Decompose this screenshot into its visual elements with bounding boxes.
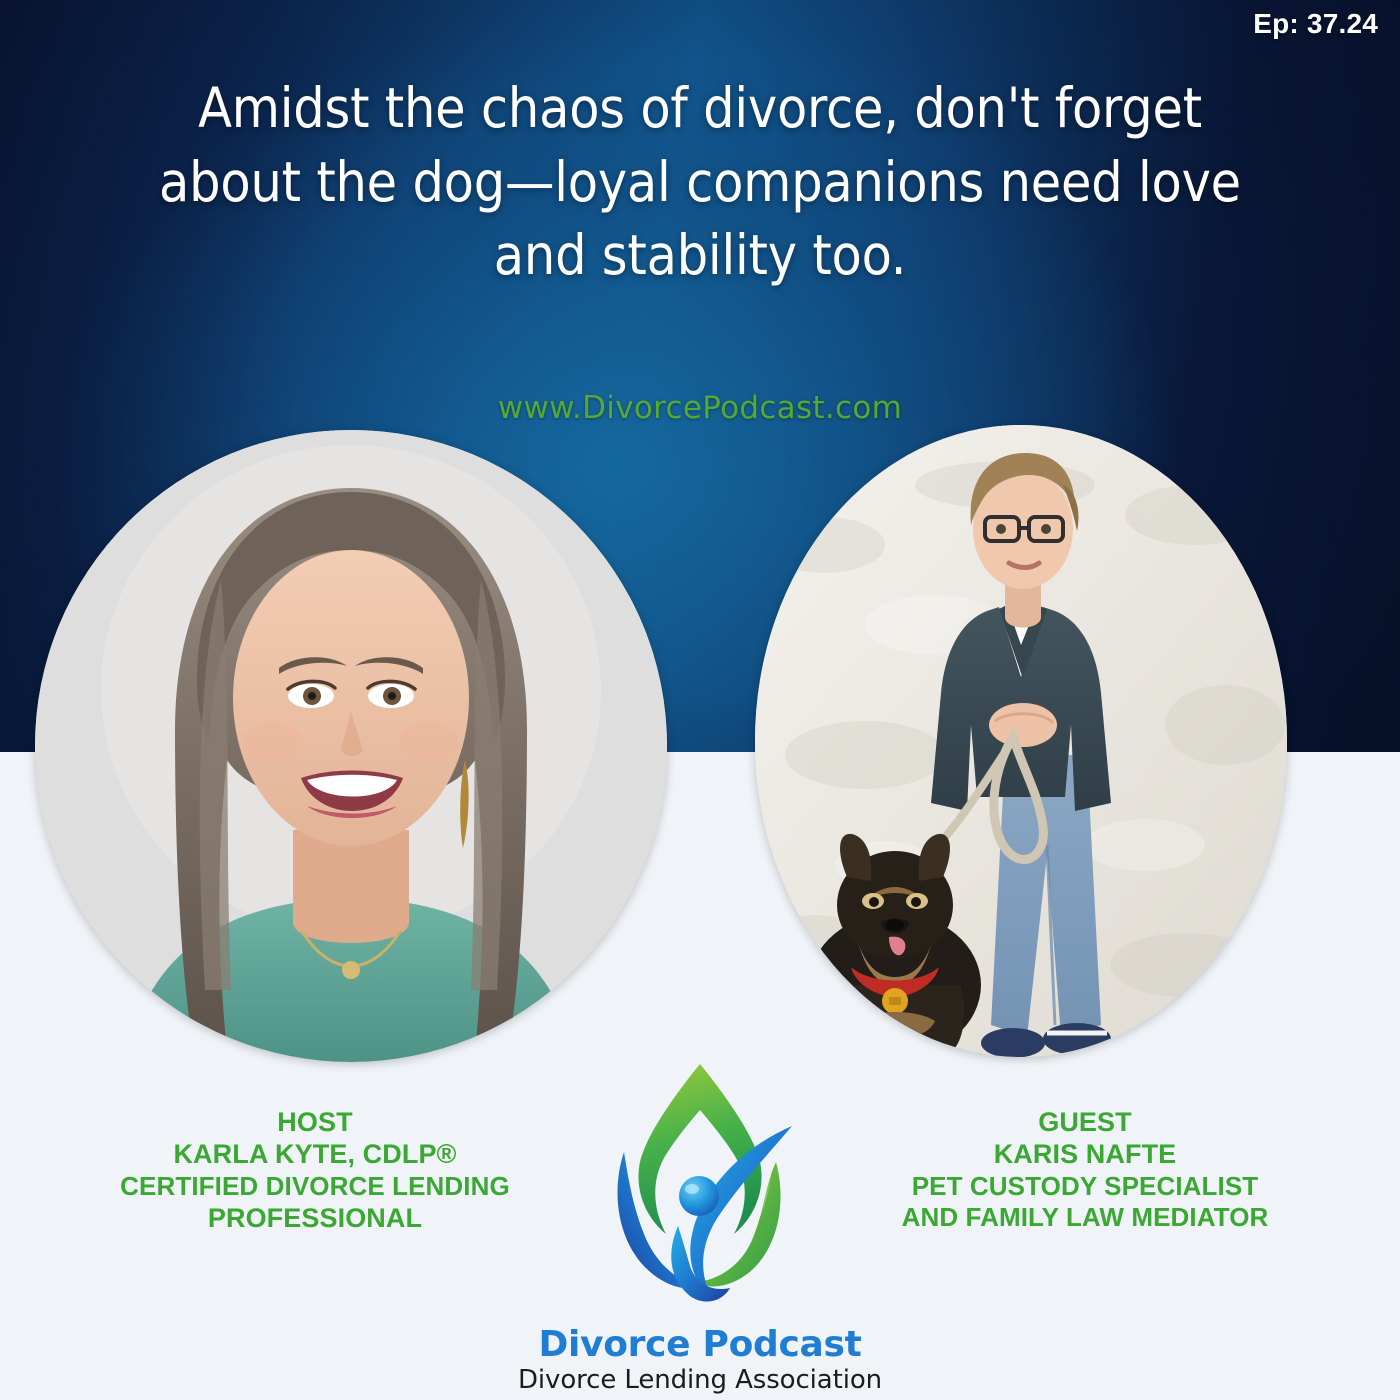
host-title-line-2: PROFESSIONAL bbox=[30, 1202, 600, 1234]
guest-credit: GUEST KARIS NAFTE PET CUSTODY SPECIALIST… bbox=[800, 1106, 1370, 1233]
quote-text: Amidst the chaos of divorce, don't forge… bbox=[110, 72, 1290, 293]
quote-line-1: Amidst the chaos of divorce, don't forge… bbox=[110, 72, 1290, 146]
guest-name: KARIS NAFTE bbox=[800, 1138, 1370, 1170]
guest-title-line-2: AND FAMILY LAW MEDIATOR bbox=[800, 1202, 1370, 1233]
quote-line-3: and stability too. bbox=[110, 219, 1290, 293]
brand-name: Divorce Podcast bbox=[0, 1326, 1400, 1364]
host-name: KARLA KYTE, CDLP® bbox=[30, 1138, 600, 1170]
guest-photo bbox=[755, 425, 1287, 1057]
episode-badge: Ep: 37.24 bbox=[1253, 8, 1378, 40]
brand-block: Divorce Podcast Divorce Lending Associat… bbox=[0, 1326, 1400, 1396]
brand-organization: Divorce Lending Association bbox=[0, 1366, 1400, 1396]
website-url[interactable]: www.DivorcePodcast.com bbox=[0, 390, 1400, 426]
quote-line-2: about the dog—loyal companions need love bbox=[110, 146, 1290, 220]
host-credit: HOST KARLA KYTE, CDLP® CERTIFIED DIVORCE… bbox=[30, 1106, 600, 1234]
divorce-podcast-logo-icon bbox=[600, 1058, 800, 1308]
host-role: HOST bbox=[30, 1106, 600, 1138]
guest-portrait-illustration bbox=[755, 425, 1287, 1057]
podcast-quote-card: Ep: 37.24 Amidst the chaos of divorce, d… bbox=[0, 0, 1400, 1400]
logo-mark bbox=[600, 1058, 800, 1308]
host-title-line-1: CERTIFIED DIVORCE LENDING bbox=[30, 1171, 600, 1202]
host-portrait-illustration bbox=[35, 430, 667, 1062]
guest-title-line-1: PET CUSTODY SPECIALIST bbox=[800, 1171, 1370, 1202]
host-photo bbox=[35, 430, 667, 1062]
guest-role: GUEST bbox=[800, 1106, 1370, 1138]
